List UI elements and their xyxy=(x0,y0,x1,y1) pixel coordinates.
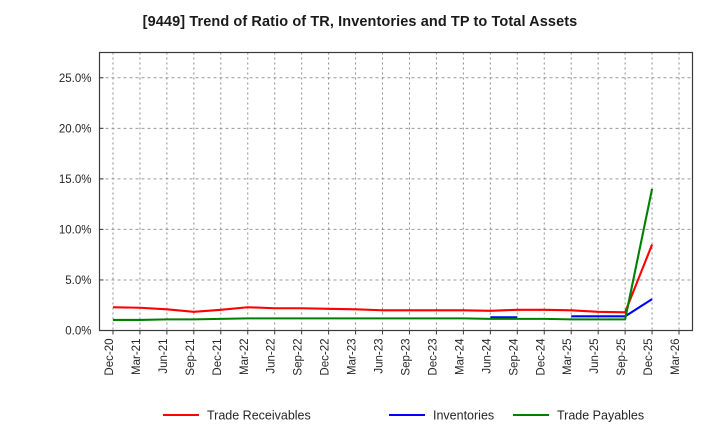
y-axis-ticks: 0.0%5.0%10.0%15.0%20.0%25.0% xyxy=(59,73,104,338)
x-tick-label: Jun-25 xyxy=(589,339,601,374)
x-tick-label: Mar-21 xyxy=(131,339,143,375)
x-tick-label: Mar-25 xyxy=(562,339,574,375)
x-tick-label: Mar-24 xyxy=(454,338,466,375)
y-tick-label: 25.0% xyxy=(59,73,92,85)
x-tick-label: Sep-23 xyxy=(400,339,412,376)
x-tick-label: Dec-25 xyxy=(643,339,655,376)
x-tick-label: Dec-24 xyxy=(535,338,547,376)
plot-frame xyxy=(100,53,693,331)
x-tick-label: Jun-22 xyxy=(266,339,278,374)
x-gridlines xyxy=(113,53,679,331)
x-tick-label: Sep-25 xyxy=(616,339,628,376)
y-tick-label: 10.0% xyxy=(59,224,92,236)
y-tick-label: 0.0% xyxy=(65,326,91,338)
legend-label: Trade Payables xyxy=(557,409,644,423)
x-tick-label: Mar-23 xyxy=(347,339,359,375)
x-tick-label: Jun-23 xyxy=(374,339,386,374)
x-tick-label: Dec-23 xyxy=(427,339,439,376)
chart-legend: Trade ReceivablesInventoriesTrade Payabl… xyxy=(163,409,644,423)
x-tick-label: Dec-20 xyxy=(104,339,116,376)
y-tick-label: 15.0% xyxy=(59,174,92,186)
chart-container: [9449] Trend of Ratio of TR, Inventories… xyxy=(0,0,720,440)
y-tick-label: 5.0% xyxy=(65,275,91,287)
x-tick-label: Dec-21 xyxy=(212,339,224,376)
x-tick-label: Sep-24 xyxy=(508,338,520,376)
chart-plot-area: 0.0%5.0%10.0%15.0%20.0%25.0% Dec-20Mar-2… xyxy=(0,0,720,440)
legend-label: Inventories xyxy=(433,409,494,423)
x-tick-label: Dec-22 xyxy=(320,339,332,376)
y-tick-label: 20.0% xyxy=(59,123,92,135)
x-axis-ticks: Dec-20Mar-21Jun-21Sep-21Dec-21Mar-22Jun-… xyxy=(104,331,682,376)
x-tick-label: Sep-21 xyxy=(185,339,197,376)
x-tick-label: Jun-24 xyxy=(481,338,493,374)
x-tick-label: Mar-26 xyxy=(670,339,682,375)
y-gridlines xyxy=(100,78,693,280)
x-tick-label: Mar-22 xyxy=(239,339,251,375)
series-line-inventories xyxy=(571,299,652,316)
x-tick-label: Jun-21 xyxy=(158,339,170,374)
legend-label: Trade Receivables xyxy=(207,409,311,423)
x-tick-label: Sep-22 xyxy=(293,339,305,376)
